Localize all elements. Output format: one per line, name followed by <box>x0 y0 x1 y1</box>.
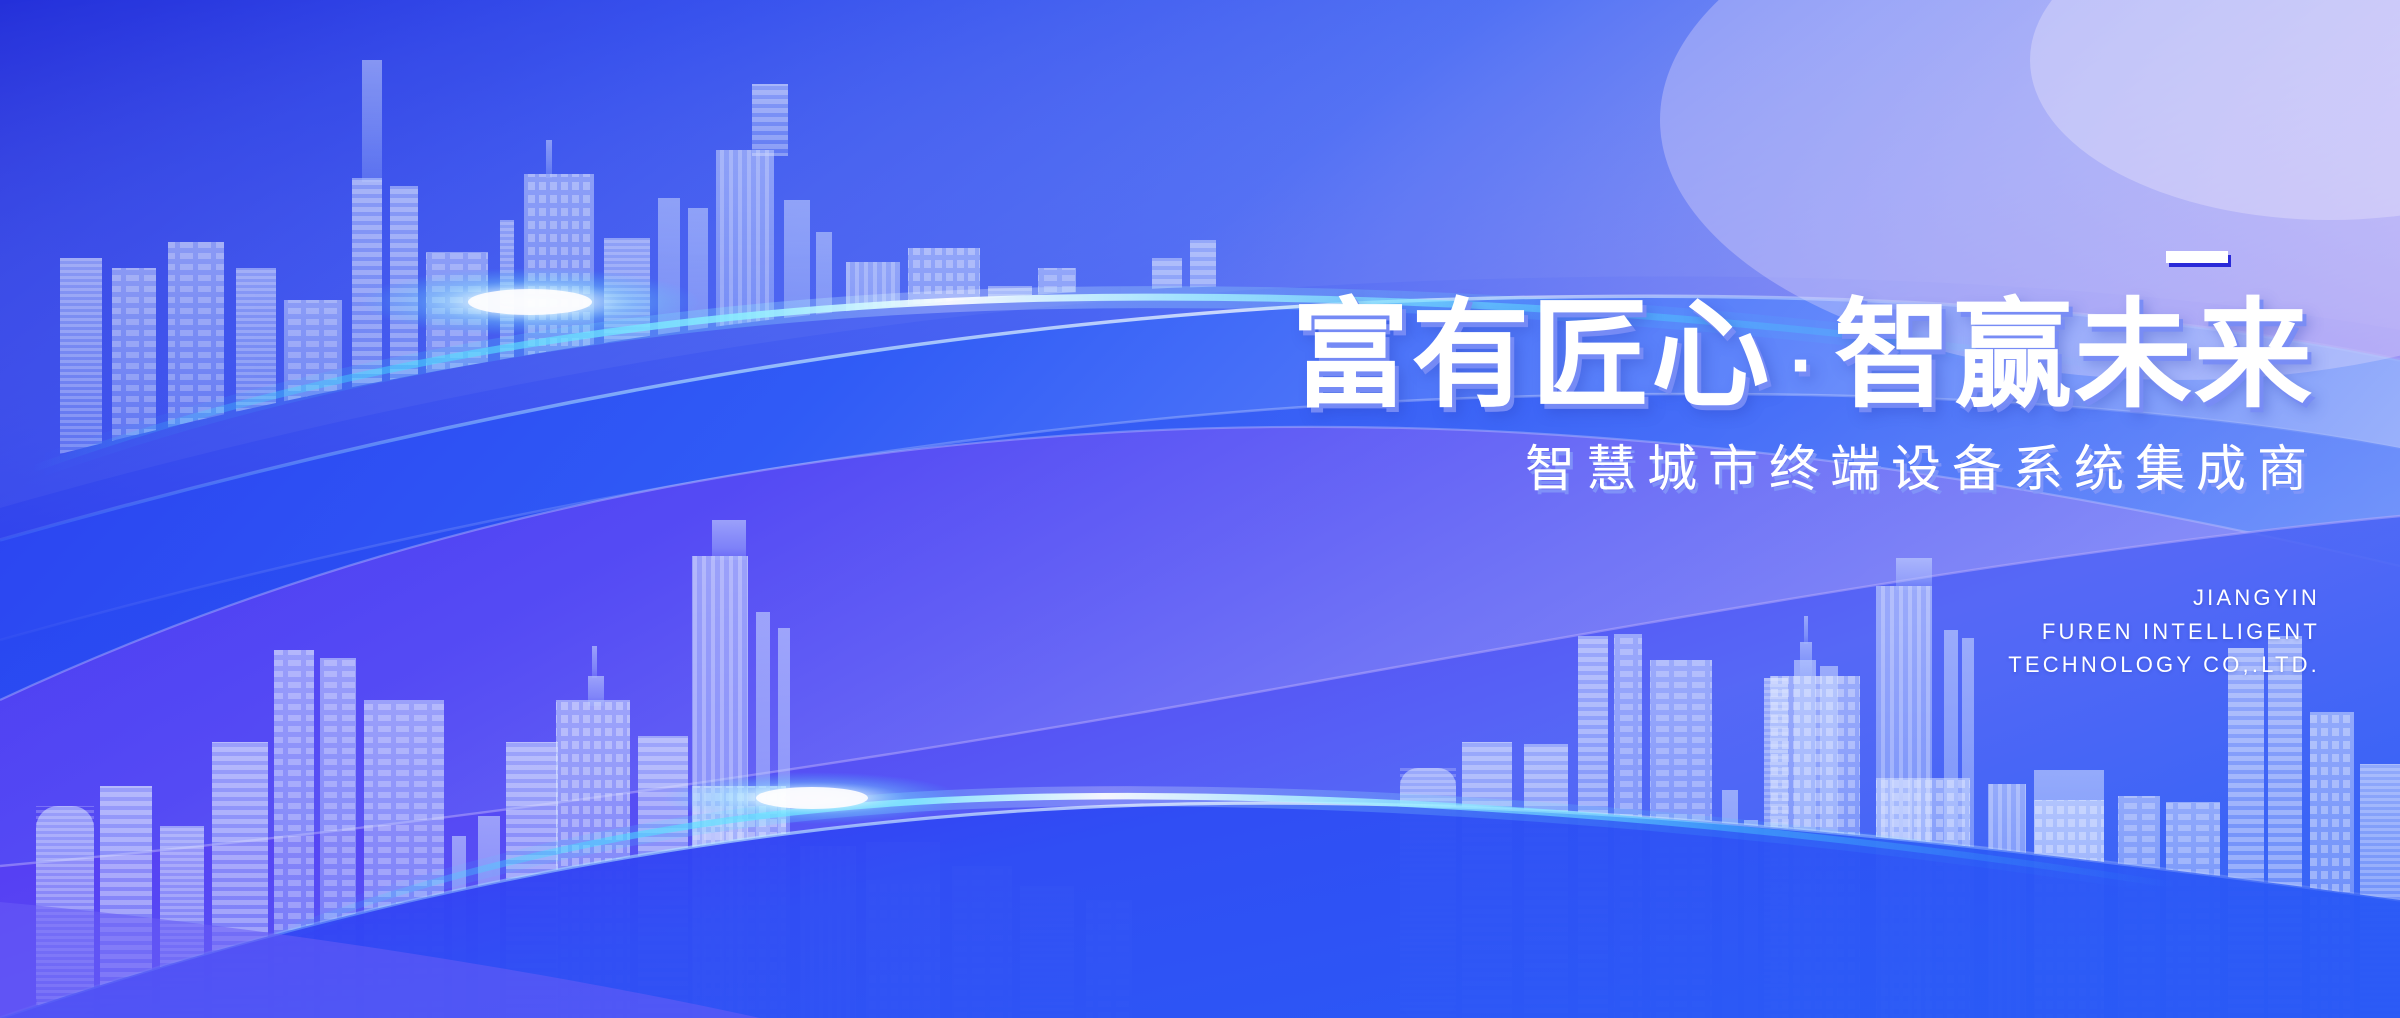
banner-headline: 富有匠心·智赢未来 <box>1060 296 2320 416</box>
company-line-2: FUREN INTELLIGENT <box>1060 615 2320 648</box>
banner-subtitle: 智慧城市终端设备系统集成商 <box>1060 442 2320 497</box>
company-name-block: JIANGYIN FUREN INTELLIGENT TECHNOLOGY CO… <box>1060 581 2320 681</box>
banner-text-block: 富有匠心·智赢未来 智慧城市终端设备系统集成商 JIANGYIN FUREN I… <box>1060 250 2320 682</box>
headline-left-text: 富有匠心 <box>1291 290 1771 422</box>
headline-separator-dot: · <box>1771 320 1834 409</box>
top-dash-mark <box>2166 251 2228 263</box>
banner-canvas: 富有匠心·智赢未来 智慧城市终端设备系统集成商 JIANGYIN FUREN I… <box>0 0 2400 1018</box>
headline-right-text: 智赢未来 <box>1834 290 2314 422</box>
company-line-3: TECHNOLOGY CO,.LTD. <box>1060 648 2320 681</box>
company-line-1: JIANGYIN <box>1060 581 2320 614</box>
